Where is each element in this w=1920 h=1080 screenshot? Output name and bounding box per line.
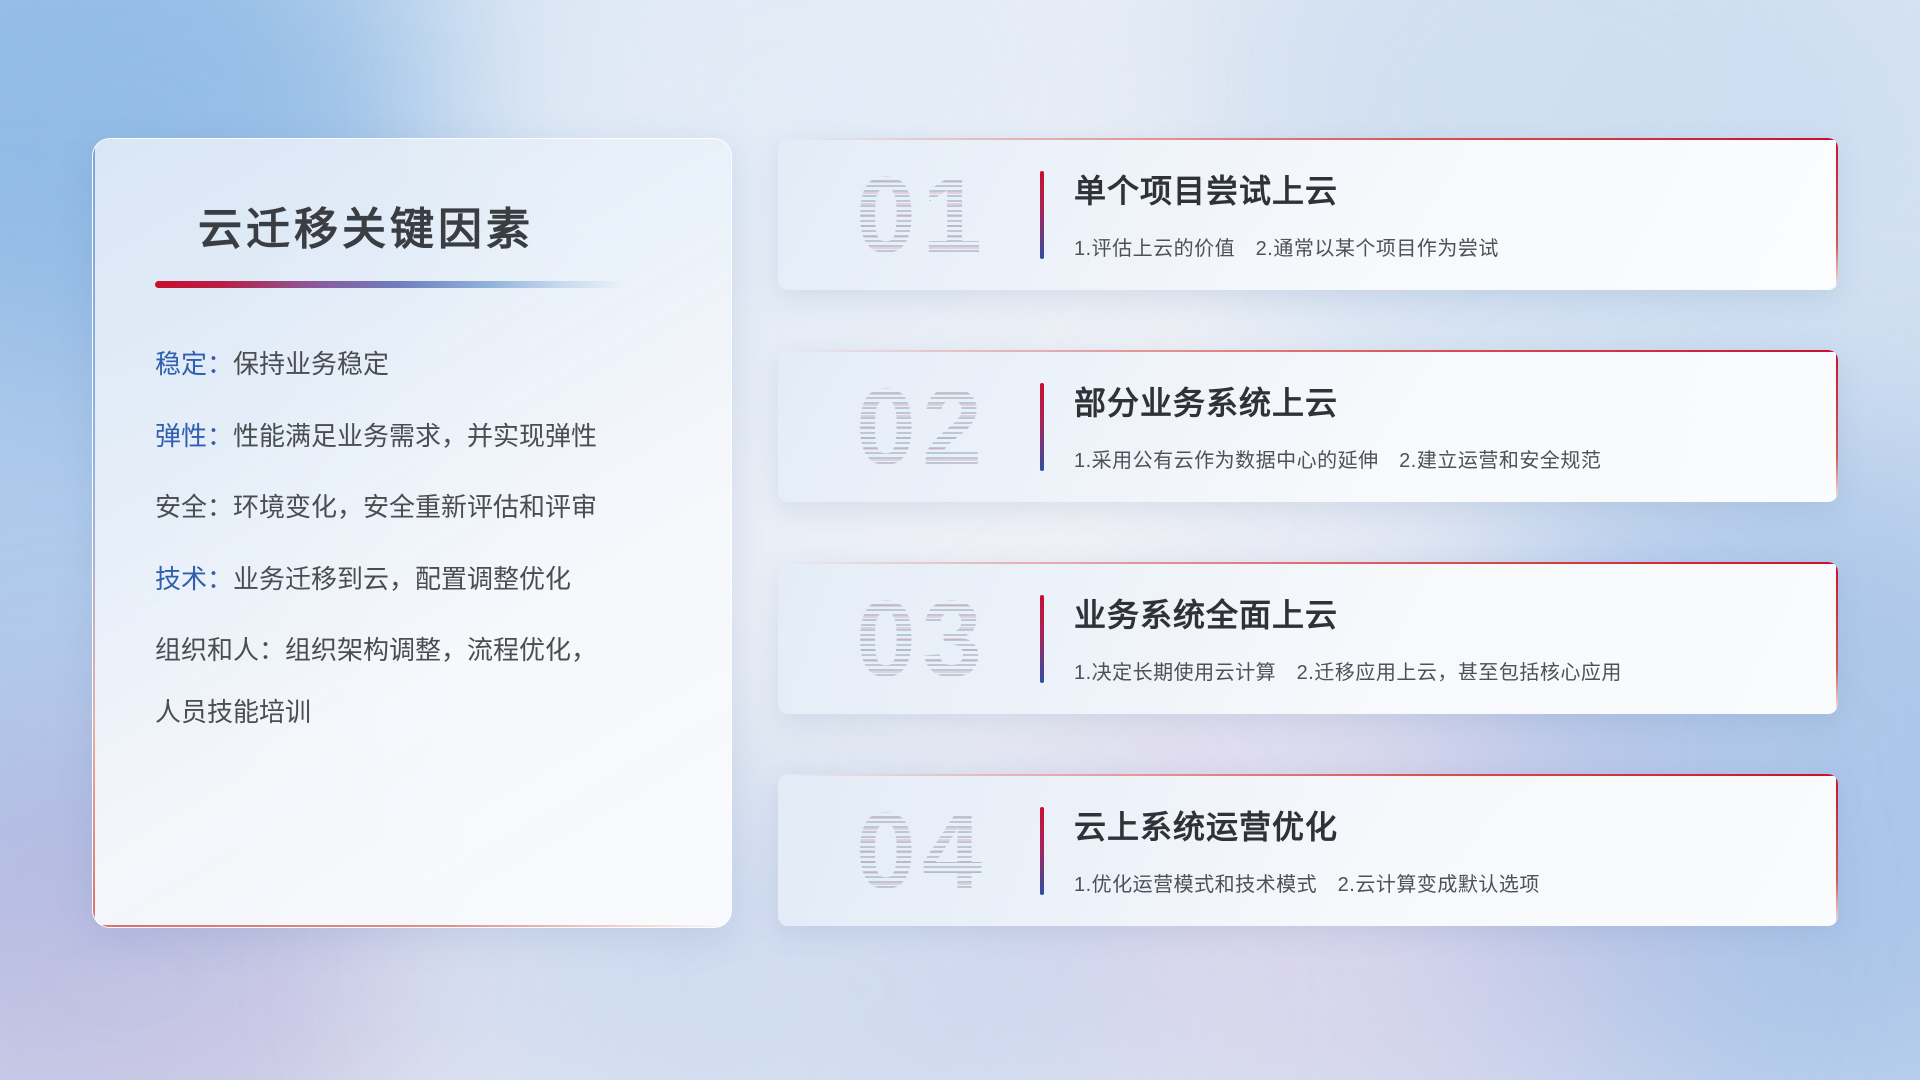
factor-row: 技术：业务迁移到云，配置调整优化 <box>155 566 701 594</box>
stage-accent-bar <box>1040 807 1044 895</box>
migration-stage-card[interactable]: 0101单个项目尝试上云1.评估上云的价值 2.通常以某个项目作为尝试 <box>778 138 1838 290</box>
key-factors-panel: 云迁移关键因素 稳定：保持业务稳定弹性：性能满足业务需求，并实现弹性安全：环境变… <box>92 138 732 928</box>
stage-number-ghost: 04 <box>822 786 1022 916</box>
factor-row: 安全：环境变化，安全重新评估和评审 <box>155 494 701 522</box>
factor-text: 组织架构调整，流程优化， <box>285 635 597 665</box>
stage-accent-bar <box>1040 383 1044 471</box>
factor-label: 组织和人： <box>155 635 285 665</box>
stage-description: 1.采用公有云作为数据中心的延伸 2.建立运营和安全规范 <box>1074 444 1814 473</box>
factor-row: 稳定：保持业务稳定 <box>155 351 701 379</box>
factor-text: 业务迁移到云，配置调整优化 <box>233 564 571 594</box>
stage-number-ghost: 03 <box>822 574 1022 704</box>
factor-text: 环境变化，安全重新评估和评审 <box>233 492 597 522</box>
stage-body: 云上系统运营优化1.优化运营模式和技术模式 2.云计算变成默认选项 <box>1074 802 1814 897</box>
slide-canvas: 云迁移关键因素 稳定：保持业务稳定弹性：性能满足业务需求，并实现弹性安全：环境变… <box>0 0 1920 1080</box>
stage-body: 业务系统全面上云1.决定长期使用云计算 2.迁移应用上云，甚至包括核心应用 <box>1074 590 1814 685</box>
stage-number-ghost: 02 <box>822 362 1022 492</box>
factor-label: 弹性： <box>155 421 233 451</box>
stage-description: 1.优化运营模式和技术模式 2.云计算变成默认选项 <box>1074 868 1814 897</box>
stage-body: 单个项目尝试上云1.评估上云的价值 2.通常以某个项目作为尝试 <box>1074 166 1814 261</box>
migration-stage-card[interactable]: 0202部分业务系统上云1.采用公有云作为数据中心的延伸 2.建立运营和安全规范 <box>778 350 1838 502</box>
factor-list: 稳定：保持业务稳定弹性：性能满足业务需求，并实现弹性安全：环境变化，安全重新评估… <box>155 351 701 726</box>
page-title: 云迁移关键因素 <box>198 193 534 257</box>
factor-text: 性能满足业务需求，并实现弹性 <box>233 421 597 451</box>
stage-title: 业务系统全面上云 <box>1074 590 1814 636</box>
migration-stage-card[interactable]: 0303业务系统全面上云1.决定长期使用云计算 2.迁移应用上云，甚至包括核心应… <box>778 562 1838 714</box>
stage-accent-bar <box>1040 595 1044 683</box>
stage-title: 部分业务系统上云 <box>1074 378 1814 424</box>
stage-number-ghost: 01 <box>822 150 1022 280</box>
factor-row: 人员技能培训 <box>155 699 701 727</box>
migration-stage-list: 0101单个项目尝试上云1.评估上云的价值 2.通常以某个项目作为尝试0202部… <box>778 138 1838 926</box>
factor-row: 组织和人：组织架构调整，流程优化， <box>155 637 701 665</box>
stage-title: 单个项目尝试上云 <box>1074 166 1814 212</box>
migration-stage-card[interactable]: 0404云上系统运营优化1.优化运营模式和技术模式 2.云计算变成默认选项 <box>778 774 1838 926</box>
title-underline-rule <box>155 281 627 288</box>
factor-text: 人员技能培训 <box>155 697 311 727</box>
factor-row: 弹性：性能满足业务需求，并实现弹性 <box>155 423 701 451</box>
stage-body: 部分业务系统上云1.采用公有云作为数据中心的延伸 2.建立运营和安全规范 <box>1074 378 1814 473</box>
factor-text: 保持业务稳定 <box>233 349 389 379</box>
stage-description: 1.决定长期使用云计算 2.迁移应用上云，甚至包括核心应用 <box>1074 656 1814 685</box>
stage-description: 1.评估上云的价值 2.通常以某个项目作为尝试 <box>1074 232 1814 261</box>
stage-accent-bar <box>1040 171 1044 259</box>
factor-label: 技术： <box>155 564 233 594</box>
factor-label: 安全： <box>155 492 233 522</box>
factor-label: 稳定： <box>155 349 233 379</box>
stage-title: 云上系统运营优化 <box>1074 802 1814 848</box>
